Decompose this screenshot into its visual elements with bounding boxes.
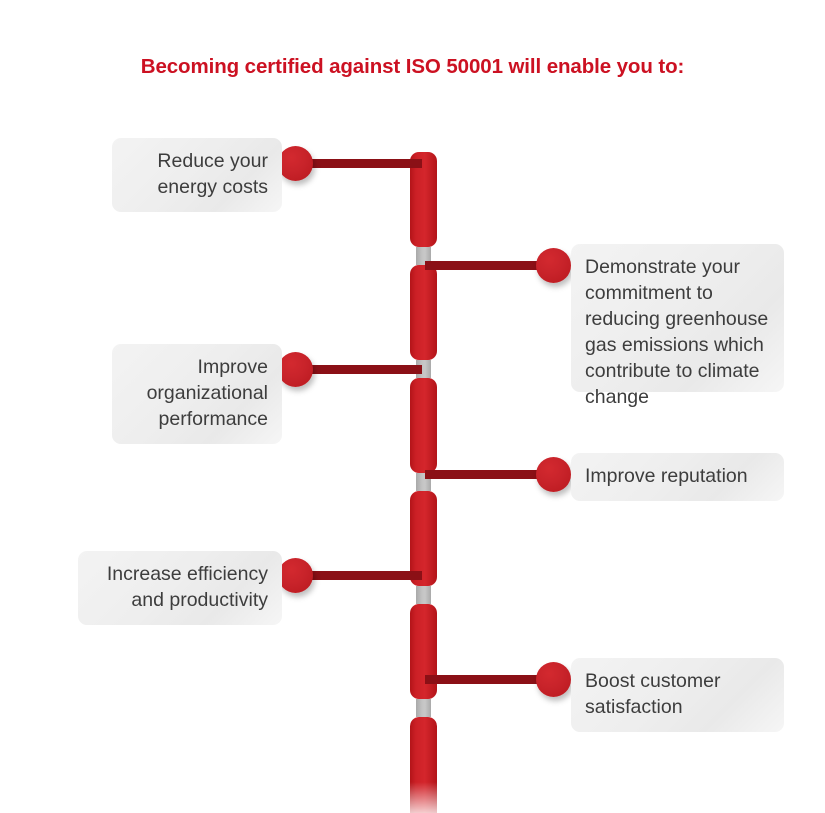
branch-label-line: energy costs	[126, 174, 268, 200]
spine-segment-5	[410, 604, 437, 699]
branch-label-line: contribute to climate	[585, 358, 770, 384]
branch-connector-line-3	[300, 365, 422, 374]
branch-label-line: Reduce your	[126, 148, 268, 174]
branch-label-box-1[interactable]: Reduce your energy costs	[112, 138, 282, 212]
spine-gap-4	[416, 586, 431, 604]
branch-label-line: satisfaction	[585, 694, 770, 720]
branch-label-line: change	[585, 384, 770, 410]
branch-label-box-5[interactable]: Increase efficiency and productivity	[78, 551, 282, 625]
branch-label-box-2[interactable]: Demonstrate your commitment to reducing …	[571, 244, 784, 392]
branch-label-line: Demonstrate your	[585, 254, 770, 280]
page-title: Becoming certified against ISO 50001 wil…	[0, 55, 825, 79]
branch-label-line: and productivity	[92, 587, 268, 613]
spine-gap-5	[416, 699, 431, 717]
branch-dot-1[interactable]	[278, 146, 313, 181]
spine-segment-3	[410, 378, 437, 473]
branch-dot-2[interactable]	[536, 248, 571, 283]
branch-dot-6[interactable]	[536, 662, 571, 697]
branch-label-box-3[interactable]: Improve organizational performance	[112, 344, 282, 444]
branch-label-line: organizational	[126, 380, 268, 406]
branch-label-line: gas emissions which	[585, 332, 770, 358]
branch-dot-3[interactable]	[278, 352, 313, 387]
branch-dot-5[interactable]	[278, 558, 313, 593]
branch-label-box-6[interactable]: Boost customer satisfaction	[571, 658, 784, 732]
branch-label-line: commitment to	[585, 280, 770, 306]
infographic-canvas: Becoming certified against ISO 50001 wil…	[0, 0, 825, 813]
spine-segment-6	[410, 717, 437, 813]
branch-label-line: Boost customer	[585, 668, 770, 694]
branch-label-line: Improve reputation	[585, 463, 770, 489]
branch-label-line: performance	[126, 406, 268, 432]
spine-segment-2	[410, 265, 437, 360]
branch-connector-line-5	[300, 571, 422, 580]
central-spine	[410, 150, 437, 754]
branch-label-line: Increase efficiency	[92, 561, 268, 587]
branch-label-line: Improve	[126, 354, 268, 380]
branch-connector-line-1	[300, 159, 422, 168]
branch-label-box-4[interactable]: Improve reputation	[571, 453, 784, 501]
branch-dot-4[interactable]	[536, 457, 571, 492]
branch-label-line: reducing greenhouse	[585, 306, 770, 332]
